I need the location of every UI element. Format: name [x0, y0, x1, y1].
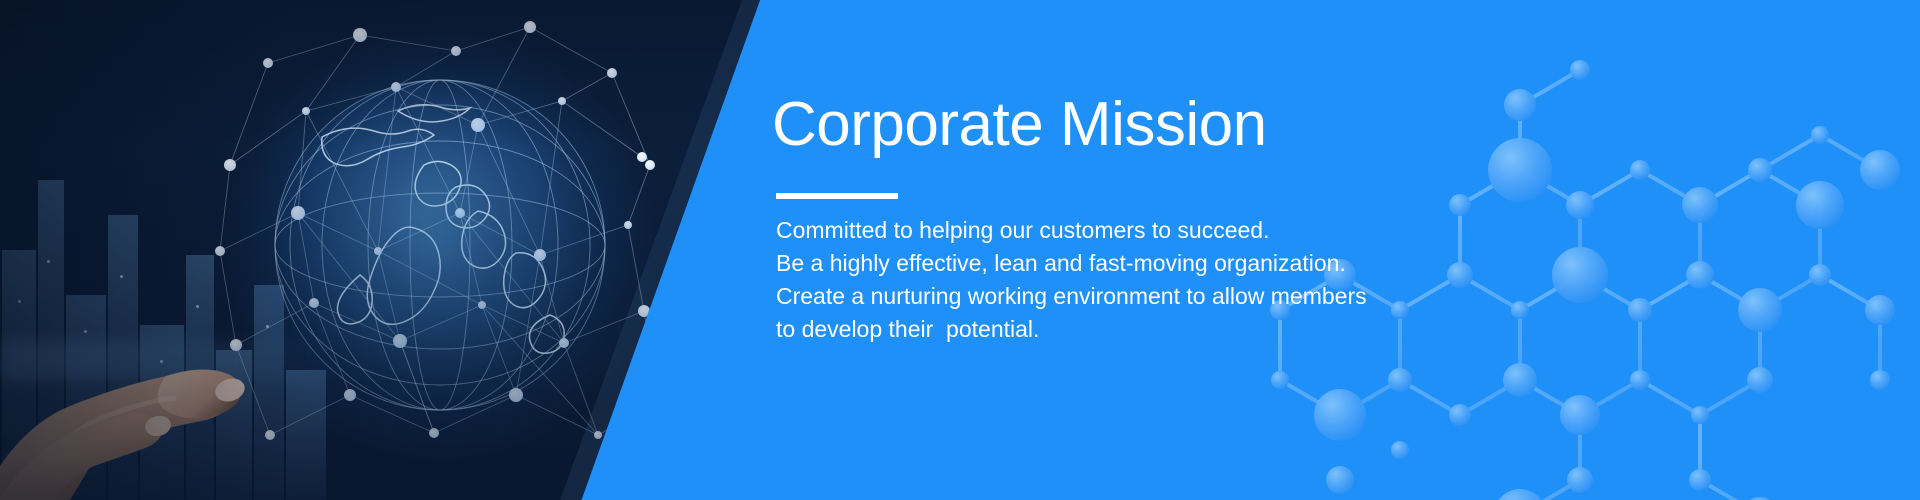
banner-content: Corporate Mission Committed to helping o… — [772, 0, 1472, 500]
mission-line: Committed to helping our customers to su… — [776, 214, 1416, 247]
page-title: Corporate Mission — [772, 92, 1267, 157]
mission-line: Be a highly effective, lean and fast-mov… — [776, 247, 1416, 280]
corporate-mission-banner: Corporate Mission Committed to helping o… — [0, 0, 1920, 500]
title-divider — [776, 193, 898, 199]
mission-statement: Committed to helping our customers to su… — [776, 214, 1416, 346]
mission-line: Create a nurturing working environment t… — [776, 280, 1416, 313]
mission-line: to develop their potential. — [776, 313, 1416, 346]
